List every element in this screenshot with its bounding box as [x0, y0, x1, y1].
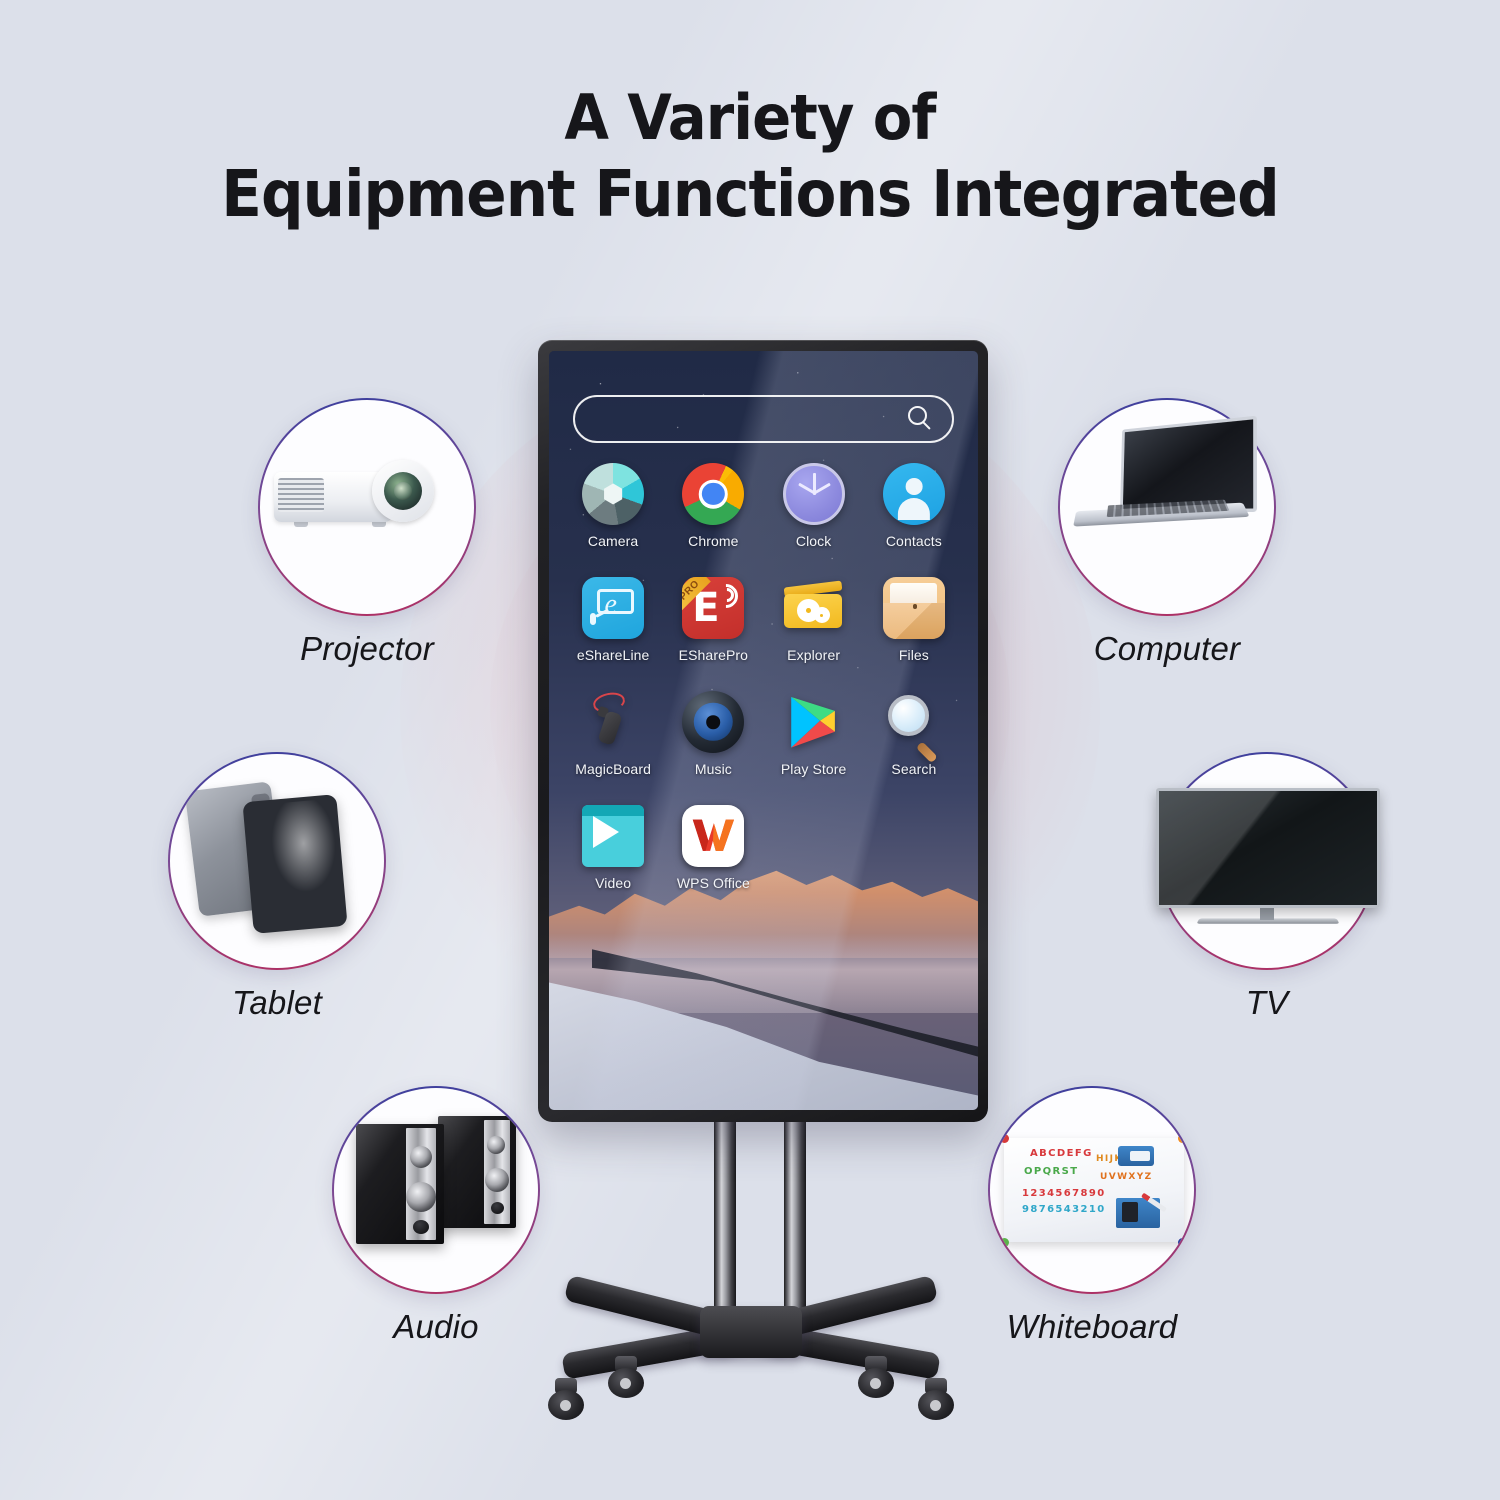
feature-circle: [1058, 398, 1276, 616]
explorer-icon[interactable]: [783, 577, 845, 639]
speakers-icon: [334, 1088, 538, 1292]
app-eshareline[interactable]: e eShareLine: [563, 577, 663, 663]
app-label: Clock: [796, 533, 832, 549]
whiteboard-text: ABCDEFG: [1030, 1148, 1093, 1159]
feature-circle: [168, 752, 386, 970]
stand-caster: [606, 1356, 646, 1398]
app-camera[interactable]: Camera: [563, 463, 663, 549]
app-label: Camera: [588, 533, 638, 549]
app-video[interactable]: Video: [563, 805, 663, 891]
app-clock[interactable]: Clock: [764, 463, 864, 549]
app-explorer[interactable]: Explorer: [764, 577, 864, 663]
app-label: Video: [595, 875, 631, 891]
app-wps-office[interactable]: WPS Office: [663, 805, 763, 891]
app-grid: Camera Chrome Clock Contacts: [563, 463, 964, 891]
mobile-stand: [0, 1118, 1500, 1448]
display-bezel: Camera Chrome Clock Contacts: [538, 340, 988, 1122]
magicboard-icon[interactable]: [582, 691, 644, 753]
feature-circle: [332, 1086, 540, 1294]
interactive-display: Camera Chrome Clock Contacts: [538, 340, 988, 1122]
whiteboard-text: OPQRST: [1024, 1166, 1078, 1177]
video-icon[interactable]: [582, 805, 644, 867]
title-line-1: A Variety of: [53, 80, 1448, 156]
app-label: Contacts: [886, 533, 942, 549]
stand-caster: [856, 1356, 896, 1398]
page-title: A Variety of Equipment Functions Integra…: [53, 80, 1448, 234]
tablet-icon: [170, 754, 384, 968]
wps-office-icon[interactable]: [682, 805, 744, 867]
app-label: Files: [899, 647, 929, 663]
display-screen[interactable]: Camera Chrome Clock Contacts: [549, 351, 978, 1110]
whiteboard-icon: ABCDEFG HIJKLMN OPQRST UVWXYZ 1234567890…: [990, 1088, 1194, 1292]
app-contacts[interactable]: Contacts: [864, 463, 964, 549]
search-icon[interactable]: [908, 406, 934, 432]
eshareline-icon[interactable]: e: [582, 577, 644, 639]
app-label: WPS Office: [677, 875, 750, 891]
feature-projector[interactable]: Projector: [258, 398, 476, 668]
feature-tv[interactable]: TV: [1158, 752, 1376, 1022]
app-label: ESharePro: [679, 647, 748, 663]
stand-pole-right: [784, 1118, 806, 1324]
feature-circle: [1158, 752, 1376, 970]
feature-label: Audio: [332, 1308, 540, 1346]
feature-label: Computer: [1058, 630, 1276, 668]
app-label: MagicBoard: [575, 761, 651, 777]
feature-circle: ABCDEFG HIJKLMN OPQRST UVWXYZ 1234567890…: [988, 1086, 1196, 1294]
contacts-icon[interactable]: [883, 463, 945, 525]
stand-base-hub: [700, 1306, 802, 1358]
app-search[interactable]: Search: [864, 691, 964, 777]
feature-label: TV: [1158, 984, 1376, 1022]
feature-label: Projector: [258, 630, 476, 668]
whiteboard-text: 9876543210: [1022, 1204, 1106, 1215]
music-icon[interactable]: [682, 691, 744, 753]
app-label: Explorer: [787, 647, 840, 663]
stand-pole-left: [714, 1118, 736, 1324]
feature-audio[interactable]: Audio: [332, 1086, 540, 1346]
feature-circle: [258, 398, 476, 616]
app-chrome[interactable]: Chrome: [663, 463, 763, 549]
stand-caster: [546, 1378, 586, 1420]
clock-icon[interactable]: [783, 463, 845, 525]
app-magicboard[interactable]: MagicBoard: [563, 691, 663, 777]
app-label: Play Store: [781, 761, 847, 777]
esharepro-icon[interactable]: E PRO: [682, 577, 744, 639]
app-esharepro[interactable]: E PRO ESharePro: [663, 577, 763, 663]
app-files[interactable]: Files: [864, 577, 964, 663]
app-label: eShareLine: [577, 647, 650, 663]
laptop-icon: [1060, 400, 1274, 614]
chrome-icon[interactable]: [682, 463, 744, 525]
play-store-icon[interactable]: [783, 691, 845, 753]
feature-label: Tablet: [168, 984, 386, 1022]
search-magnifier-icon[interactable]: [883, 691, 945, 753]
stand-caster: [916, 1378, 956, 1420]
files-icon[interactable]: [883, 577, 945, 639]
camera-icon[interactable]: [582, 463, 644, 525]
whiteboard-text: UVWXYZ: [1100, 1172, 1153, 1182]
app-play-store[interactable]: Play Store: [764, 691, 864, 777]
feature-computer[interactable]: Computer: [1058, 398, 1276, 668]
app-label: Chrome: [688, 533, 738, 549]
app-label: Search: [891, 761, 936, 777]
feature-label: Whiteboard: [988, 1308, 1196, 1346]
tv-icon: [1160, 754, 1374, 968]
app-music[interactable]: Music: [663, 691, 763, 777]
title-line-2: Equipment Functions Integrated: [53, 156, 1448, 234]
search-input[interactable]: [573, 395, 954, 443]
feature-whiteboard[interactable]: ABCDEFG HIJKLMN OPQRST UVWXYZ 1234567890…: [988, 1086, 1196, 1346]
projector-icon: [260, 400, 474, 614]
app-label: Music: [695, 761, 732, 777]
whiteboard-text: 1234567890: [1022, 1188, 1106, 1199]
feature-tablet[interactable]: Tablet: [168, 752, 386, 1022]
